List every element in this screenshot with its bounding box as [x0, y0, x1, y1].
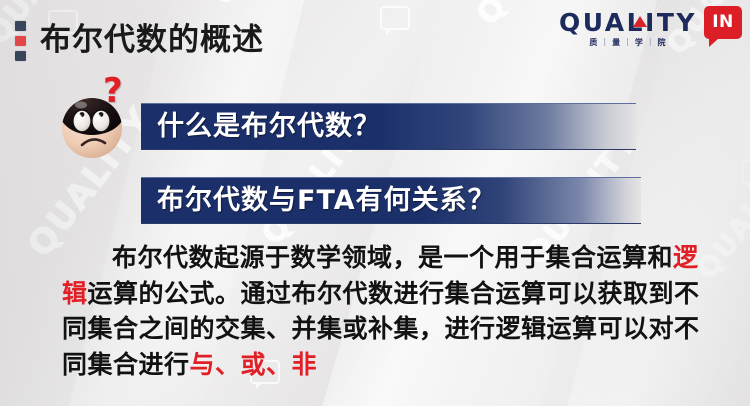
brand-logo-triangle-icon [633, 16, 647, 27]
question-mark-icon: ? [103, 74, 123, 108]
brand-logo-subtitle-char: 质 [589, 37, 598, 48]
title-bullet-stack [14, 20, 27, 62]
brand-logo: QUALITY 质 | 量 | 学 | 院 IN [559, 6, 742, 48]
watermark-word: QUALITY [205, 0, 330, 12]
brand-logo-wordmark-group: QUALITY 质 | 量 | 学 | 院 [559, 6, 697, 48]
confused-face-icon: ? [56, 88, 132, 164]
question-banner-2: 布尔代数与FTA有何关系？ [141, 177, 641, 224]
brand-logo-wordmark: QUALITY [559, 10, 697, 35]
page-title: 布尔代数的概述 [40, 25, 264, 56]
slide-title-row: 布尔代数的概述 [14, 18, 264, 62]
watermark-bubble-icon [742, 160, 750, 184]
body-segment: 运算的公式。通过布尔代数进行集合运算可以获取到不同集合之间的交集、并集或补集，进… [62, 279, 700, 379]
brand-logo-subtitle-separator: | [649, 37, 653, 48]
question-banner-2-text: 布尔代数与FTA有何关系？ [157, 187, 496, 214]
brand-logo-subtitle-separator: | [603, 37, 607, 48]
brand-logo-badge-text: IN [712, 14, 734, 31]
brand-logo-subtitle: 质 | 量 | 学 | 院 [559, 37, 697, 48]
question-banner-1-text: 什么是布尔代数？ [157, 113, 381, 140]
title-bullet-square-red [14, 35, 27, 47]
watermark-bubble-icon [380, 6, 410, 30]
brand-logo-subtitle-char: 量 [612, 37, 621, 48]
brand-logo-subtitle-char: 学 [635, 37, 644, 48]
brand-logo-subtitle-char: 院 [658, 37, 667, 48]
body-segment-highlight: 与、或、非 [190, 350, 318, 379]
slide-canvas: QUALITY QUALITY QUALITY QUALITY QUALITY … [0, 0, 750, 406]
brand-logo-speech-bubble-icon: IN [704, 6, 742, 39]
body-paragraph: 布尔代数起源于数学领域，是一个用于集合运算和逻辑运算的公式。通过布尔代数进行集合… [62, 240, 722, 382]
question-banner-1: 什么是布尔代数？ [141, 103, 636, 150]
title-bullet-square-navy [14, 50, 27, 62]
title-bullet-square-navy [14, 20, 27, 32]
brand-logo-subtitle-separator: | [626, 37, 630, 48]
body-segment: 布尔代数起源于数学领域，是一个用于集合运算和 [112, 243, 673, 272]
